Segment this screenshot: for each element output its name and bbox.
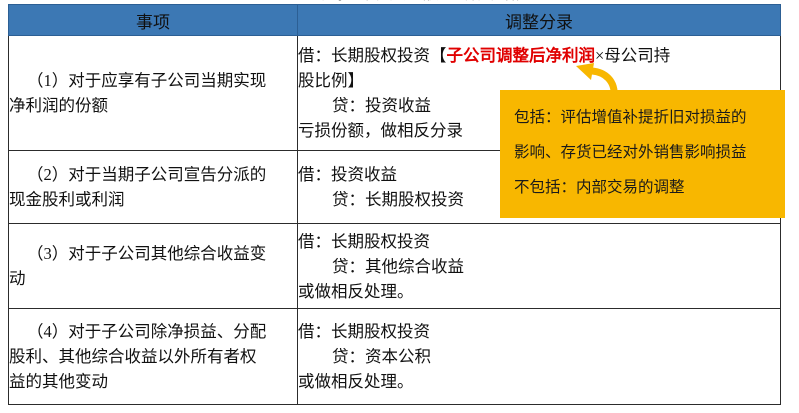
callout-line: 不包括：内部交易的调整: [514, 170, 781, 205]
entry-text: 贷：长期股权投资: [332, 190, 464, 209]
cell-item-line: 股利、其他综合收益以外所有者权: [9, 344, 297, 369]
cell-entry: 借：长期股权投资贷：其他综合收益或做相反处理。: [298, 224, 781, 309]
cell-item-line: （1）对于应享有子公司当期实现: [9, 68, 297, 93]
entry-text: 贷：其他综合收益: [332, 257, 464, 276]
column-header-entry: 调整分录: [298, 5, 781, 36]
cell-entry-line: 借：长期股权投资: [298, 229, 780, 254]
cell-item: （2）对于当期子公司宣告分派的现金股利或利润: [9, 151, 298, 224]
column-header-item: 事项: [9, 5, 298, 36]
cell-item-line: 净利润的份额: [9, 93, 297, 118]
entry-text: 或做相反处理。: [298, 282, 414, 301]
cell-item-line: （3）对于子公司其他综合收益变: [9, 241, 297, 266]
clipped-top-text: 上述调整分录的编制说明（仅显示部分内容）: [0, 0, 799, 3]
entry-text: ×母公司持: [595, 46, 670, 65]
cell-entry-line: 或做相反处理。: [298, 279, 780, 304]
table-row: （3）对于子公司其他综合收益变动借：长期股权投资贷：其他综合收益或做相反处理。: [9, 224, 781, 309]
cell-entry-line: 借：长期股权投资: [298, 319, 780, 344]
cell-entry-line: 借：长期股权投资【子公司调整后净利润×母公司持: [298, 43, 780, 68]
entry-text: 借：投资收益: [298, 165, 397, 184]
cell-item: （3）对于子公司其他综合收益变动: [9, 224, 298, 309]
cell-item-line: （4）对于子公司除净损益、分配: [9, 319, 297, 344]
entry-text: 借：长期股权投资: [298, 232, 430, 251]
cell-entry-line: 贷：其他综合收益: [298, 254, 780, 279]
entry-text: 亏损份额，做相反分录: [298, 121, 463, 140]
table-header-row: 事项 调整分录: [9, 5, 781, 36]
cell-item: （1）对于应享有子公司当期实现净利润的份额: [9, 36, 298, 151]
entry-text: 借：长期股权投资【: [298, 46, 447, 65]
entry-text: 贷：资本公积: [332, 347, 431, 366]
cell-entry: 借：长期股权投资贷：资本公积或做相反处理。: [298, 309, 781, 405]
cell-item-line: 现金股利或利润: [9, 187, 297, 212]
cell-item-line: 动: [9, 266, 297, 291]
table-header: 事项 调整分录: [9, 5, 781, 36]
cell-entry-line: 或做相反处理。: [298, 369, 780, 394]
cell-item-line: （2）对于当期子公司宣告分派的: [9, 162, 297, 187]
annotation-callout: 包括：评估增值补提折旧对损益的 影响、存货已经对外销售影响损益 不包括：内部交易…: [500, 90, 785, 218]
entry-text: 借：长期股权投资: [298, 322, 430, 341]
callout-line: 影响、存货已经对外销售影响损益: [514, 135, 781, 170]
callout-line: 包括：评估增值补提折旧对损益的: [514, 100, 781, 135]
cell-item: （4）对于子公司除净损益、分配股利、其他综合收益以外所有者权益的其他变动: [9, 309, 298, 405]
entry-text: 或做相反处理。: [298, 372, 414, 391]
entry-text: 股比例】: [298, 71, 364, 90]
highlighted-phrase: 子公司调整后净利润: [447, 46, 596, 65]
cell-entry-line: 贷：资本公积: [298, 344, 780, 369]
table-row: （4）对于子公司除净损益、分配股利、其他综合收益以外所有者权益的其他变动借：长期…: [9, 309, 781, 405]
cell-item-line: 益的其他变动: [9, 369, 297, 394]
entry-text: 贷：投资收益: [332, 96, 431, 115]
